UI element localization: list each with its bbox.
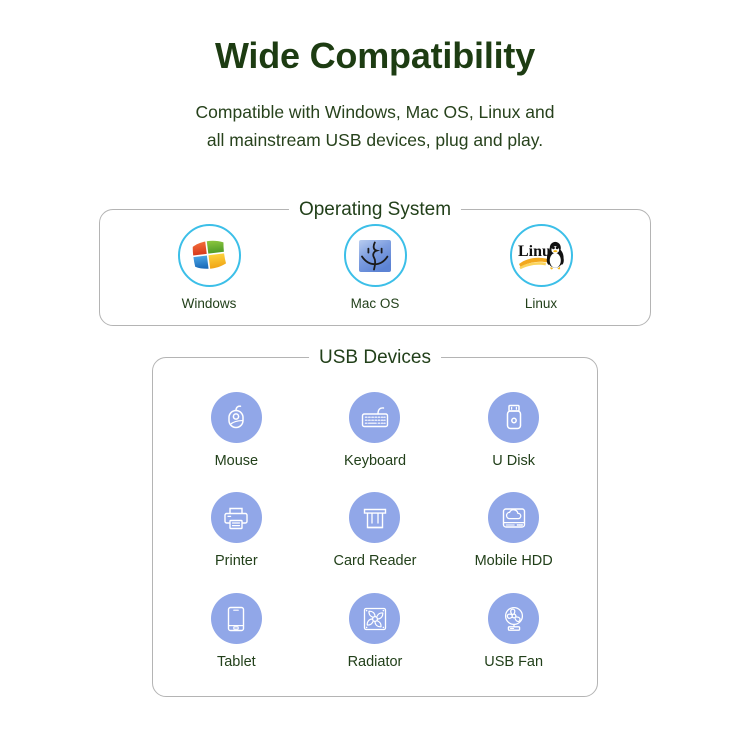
usb-devices-panel: USB Devices Mouse bbox=[152, 357, 598, 697]
printer-icon bbox=[222, 504, 250, 532]
os-icon-ring-macos bbox=[344, 224, 407, 287]
page-title: Wide Compatibility bbox=[0, 36, 750, 76]
usb-item-mobile-hdd[interactable]: Mobile HDD bbox=[475, 492, 553, 569]
cooling-fan-icon bbox=[361, 605, 389, 633]
usb-item-radiator[interactable]: Radiator bbox=[348, 593, 403, 670]
linux-tux-icon: Linux bbox=[516, 237, 566, 275]
os-item-windows[interactable]: Windows bbox=[134, 224, 284, 311]
usb-item-u-disk[interactable]: U Disk bbox=[488, 392, 539, 469]
usb-label-mobile-hdd: Mobile HDD bbox=[475, 553, 553, 569]
mac-finder-face-icon bbox=[357, 238, 393, 274]
usb-icon-circle-mobile-hdd bbox=[488, 492, 539, 543]
os-label-linux: Linux bbox=[525, 296, 557, 311]
usb-item-printer[interactable]: Printer bbox=[211, 492, 262, 569]
usb-icon-circle-printer bbox=[211, 492, 262, 543]
usb-icon-circle-card-reader bbox=[349, 492, 400, 543]
usb-icon-circle-tablet bbox=[211, 593, 262, 644]
usb-item-usb-fan[interactable]: USB Fan bbox=[484, 593, 543, 670]
subtitle-line-2: all mainstream USB devices, plug and pla… bbox=[0, 126, 750, 155]
operating-system-list: Windows bbox=[100, 210, 650, 325]
usb-label-tablet: Tablet bbox=[217, 654, 256, 670]
operating-system-panel: Operating System bbox=[99, 209, 651, 326]
usb-icon-circle-usb-fan bbox=[488, 593, 539, 644]
usb-devices-grid: Mouse bbox=[153, 358, 597, 696]
usb-icon-circle-radiator bbox=[349, 593, 400, 644]
usb-item-mouse[interactable]: Mouse bbox=[211, 392, 262, 469]
windows-logo-icon bbox=[189, 236, 229, 276]
usb-label-radiator: Radiator bbox=[348, 654, 403, 670]
usb-icon-circle-mouse bbox=[211, 392, 262, 443]
usb-item-card-reader[interactable]: Card Reader bbox=[333, 492, 416, 569]
os-label-macos: Mac OS bbox=[351, 296, 400, 311]
os-icon-ring-linux: Linux bbox=[510, 224, 573, 287]
page-subtitle: Compatible with Windows, Mac OS, Linux a… bbox=[0, 98, 750, 156]
usb-item-tablet[interactable]: Tablet bbox=[211, 593, 262, 670]
usb-label-card-reader: Card Reader bbox=[333, 553, 416, 569]
os-label-windows: Windows bbox=[182, 296, 237, 311]
card-reader-icon bbox=[361, 504, 389, 532]
mouse-icon bbox=[222, 403, 250, 431]
keyboard-icon bbox=[360, 402, 390, 432]
hard-drive-icon bbox=[500, 504, 528, 532]
subtitle-line-1: Compatible with Windows, Mac OS, Linux a… bbox=[0, 98, 750, 127]
header: Wide Compatibility Compatible with Windo… bbox=[0, 0, 750, 155]
usb-flash-drive-icon bbox=[500, 403, 528, 431]
usb-icon-circle-keyboard bbox=[349, 392, 400, 443]
os-item-macos[interactable]: Mac OS bbox=[300, 224, 450, 311]
desk-fan-icon bbox=[500, 605, 528, 633]
usb-label-printer: Printer bbox=[215, 553, 258, 569]
usb-icon-circle-u-disk bbox=[488, 392, 539, 443]
usb-label-mouse: Mouse bbox=[215, 453, 259, 469]
usb-label-keyboard: Keyboard bbox=[344, 453, 406, 469]
usb-item-keyboard[interactable]: Keyboard bbox=[344, 392, 406, 469]
os-item-linux[interactable]: Linux bbox=[466, 224, 616, 311]
tablet-icon bbox=[222, 605, 250, 633]
compatibility-infographic: Wide Compatibility Compatible with Windo… bbox=[0, 0, 750, 750]
operating-system-panel-legend: Operating System bbox=[289, 197, 461, 223]
usb-label-usb-fan: USB Fan bbox=[484, 654, 543, 670]
os-icon-ring-windows bbox=[178, 224, 241, 287]
usb-label-u-disk: U Disk bbox=[492, 453, 535, 469]
usb-devices-panel-legend: USB Devices bbox=[309, 345, 441, 371]
